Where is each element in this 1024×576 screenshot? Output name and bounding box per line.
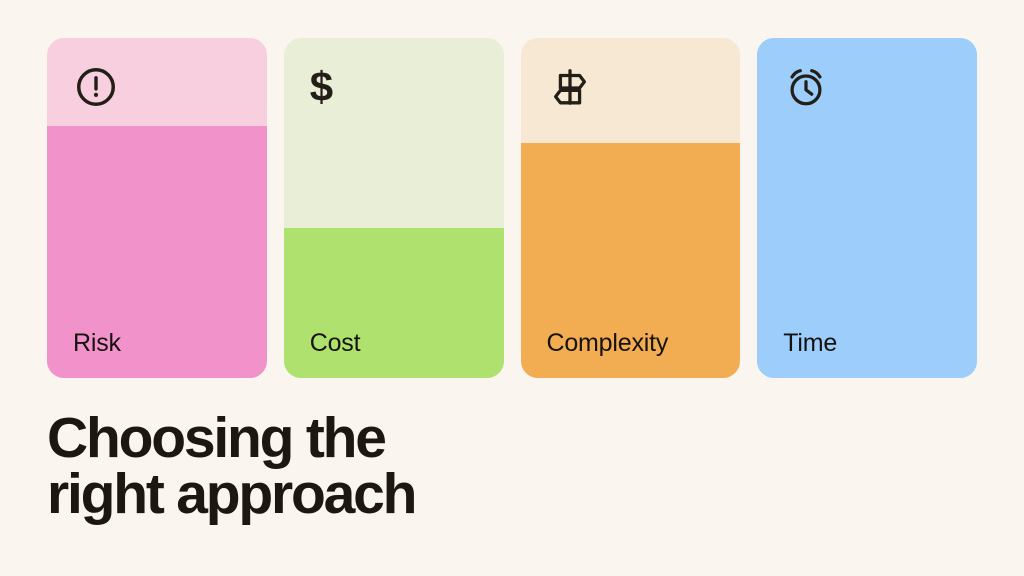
metric-label-risk: Risk (73, 330, 121, 358)
metric-label-complexity: Complexity (547, 330, 669, 358)
metric-card-complexity[interactable]: Complexity (521, 38, 741, 378)
metric-card-rail: Risk $ Cost Complexity (47, 38, 977, 378)
page-title-line-2: right approach (47, 466, 747, 522)
metric-label-time: Time (783, 330, 837, 358)
dollar-sign-icon: $ (310, 64, 356, 110)
page-title: Choosing the right approach (47, 410, 747, 523)
metric-card-risk[interactable]: Risk (47, 38, 267, 378)
metric-card-time[interactable]: Time (757, 38, 977, 378)
signpost-icon (547, 64, 593, 110)
page-title-line-1: Choosing the (47, 410, 747, 466)
slide-canvas: Risk $ Cost Complexity (0, 0, 1024, 576)
alarm-clock-icon (783, 64, 829, 110)
dollar-sign-glyph: $ (310, 63, 333, 110)
warning-circle-icon (73, 64, 119, 110)
metric-label-cost: Cost (310, 330, 361, 358)
metric-card-cost[interactable]: $ Cost (284, 38, 504, 378)
